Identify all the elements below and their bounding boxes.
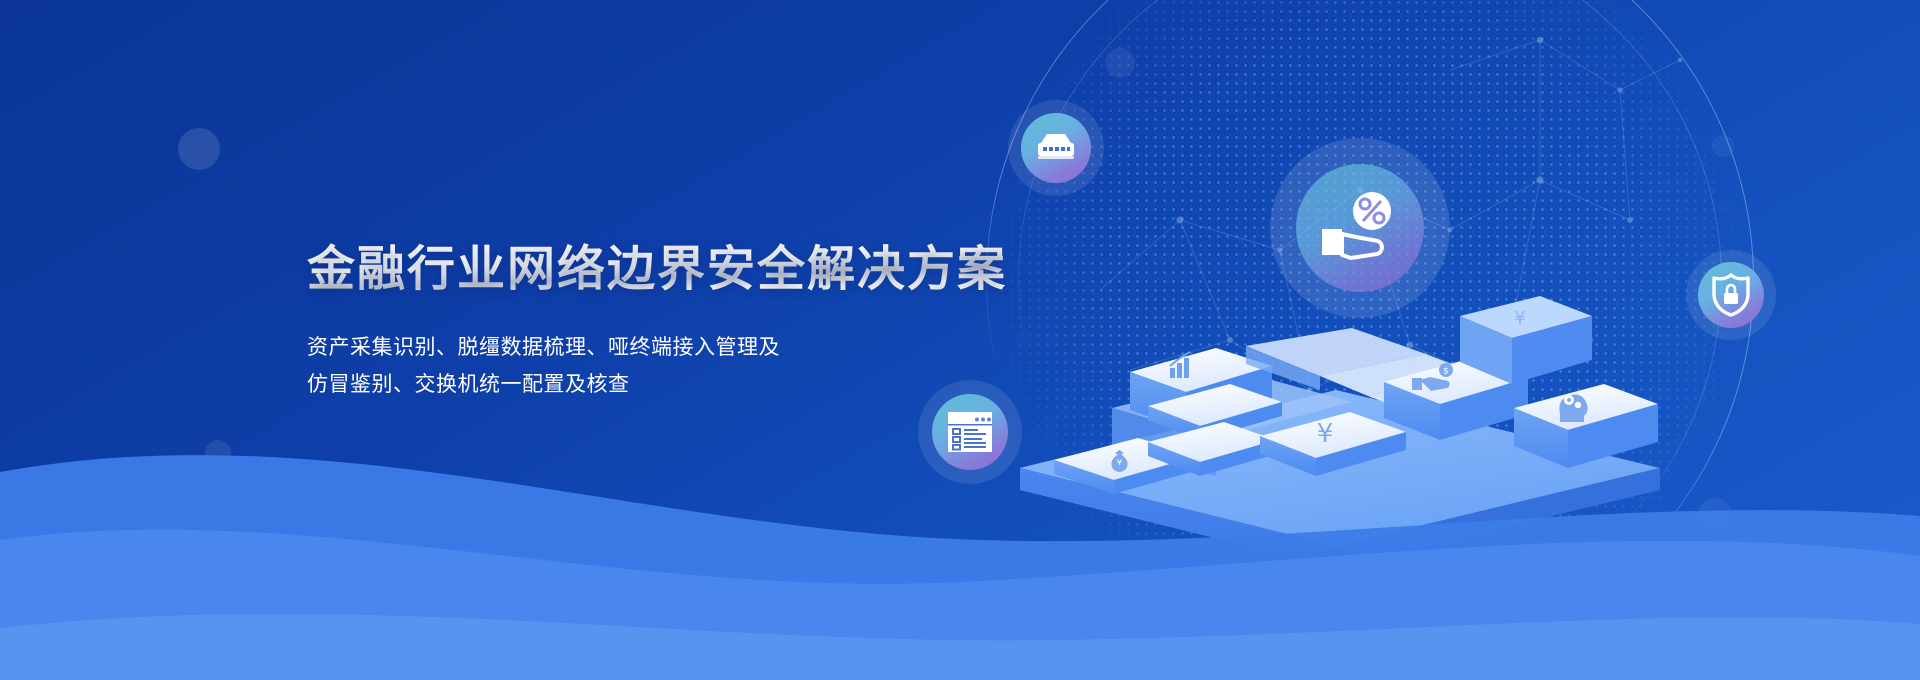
svg-text:$: $	[1443, 367, 1449, 377]
bokeh-dot	[1105, 48, 1135, 78]
page-title: 金融行业网络边界安全解决方案	[307, 240, 1067, 300]
document-list-icon	[946, 410, 994, 454]
banner-copy: 金融行业网络边界安全解决方案 资产采集识别、脱缰数据梳理、哑终端接入管理及 仿冒…	[307, 240, 1067, 404]
bokeh-dot	[1712, 135, 1734, 157]
shield-lock-icon	[1710, 272, 1752, 318]
bubble-network-switch	[1008, 100, 1104, 196]
bubble-hand-percent	[1270, 138, 1450, 318]
subtitle-line-2: 仿冒鉴别、交换机统一配置及核查	[307, 367, 1067, 404]
yuan-cube-icon: ¥	[1514, 308, 1525, 329]
head-gears-ai-icon	[1559, 394, 1587, 422]
finance-security-banner: ¥	[0, 0, 1920, 680]
bubble-shield-lock	[1686, 250, 1776, 340]
bottom-wave-decoration	[0, 420, 1920, 680]
page-subtitle: 资产采集识别、脱缰数据梳理、哑终端接入管理及 仿冒鉴别、交换机统一配置及核查	[307, 330, 1067, 404]
hand-percent-icon	[1314, 191, 1406, 265]
bokeh-dot	[178, 128, 220, 170]
subtitle-line-1: 资产采集识别、脱缰数据梳理、哑终端接入管理及	[307, 330, 1067, 367]
network-switch-icon	[1033, 131, 1079, 165]
